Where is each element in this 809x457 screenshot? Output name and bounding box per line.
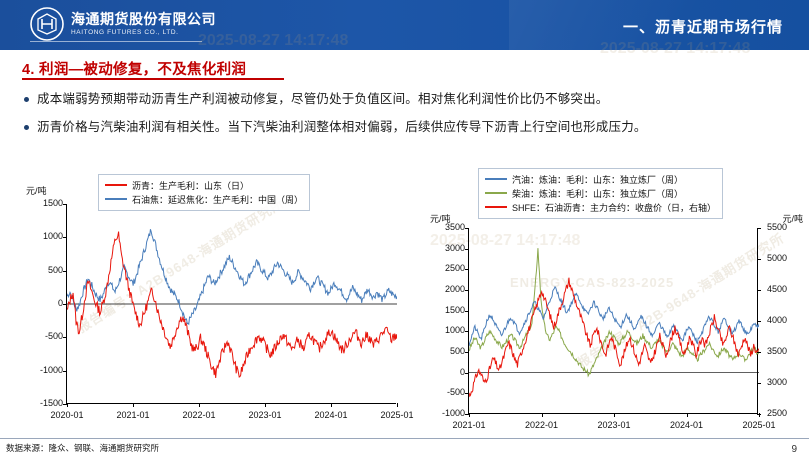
y-tick-mark	[63, 204, 67, 205]
y-tick-label-right: 3500	[767, 346, 805, 356]
y-tick-label: 1000	[427, 325, 465, 335]
y-tick-mark	[465, 290, 469, 291]
company-name-cn: 海通期货股份有限公司	[71, 11, 216, 28]
logo-divider	[30, 41, 202, 42]
x-tick-label: 2021-01	[443, 420, 495, 430]
x-tick-mark	[469, 413, 470, 417]
page-header: 海通期货股份有限公司 HAITONG FUTURES CO., LTD. 一、沥…	[0, 0, 809, 50]
x-tick-label: 2022-01	[173, 410, 225, 420]
y-tick-mark	[63, 304, 67, 305]
page-number: 9	[791, 444, 797, 455]
x-tick-label: 2025-01	[371, 410, 423, 420]
y-tick-label: -1000	[25, 365, 63, 375]
x-tick-label: 2025-01	[733, 420, 785, 430]
x-tick-mark	[67, 403, 68, 407]
y-tick-label-right: 3000	[767, 377, 805, 387]
bullet-dot-icon	[24, 125, 29, 130]
chart-left: 沥青：生产毛利：山东（日） 石油焦：延迟焦化：生产毛利：中国（周） 元/吨 15…	[18, 160, 408, 430]
y-tick-label-right: 5000	[767, 253, 805, 263]
y-tick-mark	[465, 228, 469, 229]
page-title: 4. 利润—被动修复，不及焦化利润	[22, 58, 246, 79]
legend-label: SHFE：石油沥青：主力合约：收盘价（日，右轴）	[512, 201, 716, 214]
y-tick-label: -500	[427, 387, 465, 397]
x-tick-label: 2020-01	[41, 410, 93, 420]
x-tick-label: 2021-01	[107, 410, 159, 420]
y-tick-mark	[465, 311, 469, 312]
y-tick-mark-right	[757, 383, 761, 384]
legend-label: 柴油：炼油：毛利：山东：独立炼厂（周）	[512, 187, 683, 200]
x-tick-label: 2022-01	[516, 420, 568, 430]
y-tick-label: 1500	[25, 198, 63, 208]
legend-label: 沥青：生产毛利：山东（日）	[132, 179, 249, 192]
bullet-dot-icon	[24, 97, 29, 102]
y-tick-mark	[465, 393, 469, 394]
y-tick-label: 0	[427, 367, 465, 377]
legend-entry: SHFE：石油沥青：主力合约：收盘价（日，右轴）	[485, 200, 716, 214]
x-tick-mark	[331, 403, 332, 407]
y-tick-mark	[63, 237, 67, 238]
y-tick-label: 2000	[427, 284, 465, 294]
header-section-title: 一、沥青近期市场行情	[623, 16, 783, 37]
y-tick-label: 3500	[427, 222, 465, 232]
x-tick-mark	[133, 403, 134, 407]
y-tick-label: 1500	[427, 305, 465, 315]
legend-swatch	[485, 178, 507, 180]
x-tick-label: 2023-01	[239, 410, 291, 420]
x-tick-mark	[397, 403, 398, 407]
legend-entry: 沥青：生产毛利：山东（日）	[105, 178, 303, 192]
chart-right: 汽油：炼油：毛利：山东：独立炼厂（周） 柴油：炼油：毛利：山东：独立炼厂（周） …	[420, 160, 805, 430]
legend-swatch	[105, 198, 127, 200]
chart-right-plot: 3500300025002000150010005000-500-1000550…	[468, 228, 758, 414]
legend-entry: 柴油：炼油：毛利：山东：独立炼厂（周）	[485, 186, 716, 200]
legend-entry: 汽油：炼油：毛利：山东：独立炼厂（周）	[485, 172, 716, 186]
y-tick-label: 1000	[25, 231, 63, 241]
y-tick-mark-right	[757, 259, 761, 260]
bullet-text: 成本端弱势预期带动沥青生产利润被动修复，尽管仍处于负值区间。相对焦化利润性价比仍…	[37, 90, 609, 108]
y-tick-label: 500	[427, 346, 465, 356]
x-tick-mark	[199, 403, 200, 407]
x-tick-label: 2024-01	[305, 410, 357, 420]
x-tick-mark	[265, 403, 266, 407]
x-tick-label: 2024-01	[661, 420, 713, 430]
bullet-item: 成本端弱势预期带动沥青生产利润被动修复，尽管仍处于负值区间。相对焦化利润性价比仍…	[24, 90, 784, 108]
y-tick-label: -1000	[427, 408, 465, 418]
y-tick-label: -500	[25, 331, 63, 341]
bullet-item: 沥青价格与汽柴油利润有相关性。当下汽柴油利润整体相对偏弱，后续供应传导下沥青上行…	[24, 118, 784, 136]
y-tick-mark	[63, 271, 67, 272]
title-underline	[22, 78, 284, 80]
x-tick-mark	[687, 413, 688, 417]
company-name-en: HAITONG FUTURES CO., LTD.	[71, 28, 216, 38]
y-tick-mark	[465, 352, 469, 353]
y-tick-label-right: 4000	[767, 315, 805, 325]
y-tick-mark-right	[757, 321, 761, 322]
y-tick-label-right: 5500	[767, 222, 805, 232]
legend-swatch	[105, 184, 127, 186]
legend-swatch	[485, 206, 507, 208]
bullet-text: 沥青价格与汽柴油利润有相关性。当下汽柴油利润整体相对偏弱，后续供应传导下沥青上行…	[37, 118, 647, 136]
legend-swatch	[485, 192, 507, 194]
y-tick-label: 2500	[427, 263, 465, 273]
x-tick-label: 2023-01	[588, 420, 640, 430]
y-tick-label-right: 2500	[767, 408, 805, 418]
y-tick-mark	[465, 331, 469, 332]
y-tick-mark-right	[757, 290, 761, 291]
y-tick-mark	[465, 269, 469, 270]
y-tick-mark-right	[757, 352, 761, 353]
x-tick-mark	[614, 413, 615, 417]
y-tick-label: 3000	[427, 243, 465, 253]
company-logo: 海通期货股份有限公司 HAITONG FUTURES CO., LTD.	[30, 7, 216, 41]
y-tick-mark-right	[757, 228, 761, 229]
y-tick-mark	[63, 337, 67, 338]
data-source-note: 数据来源：隆众、钢联、海通期货研究所	[6, 442, 159, 454]
y-tick-label: 500	[25, 265, 63, 275]
chart-right-legend: 汽油：炼油：毛利：山东：独立炼厂（周） 柴油：炼油：毛利：山东：独立炼厂（周） …	[478, 168, 723, 219]
y-tick-mark	[465, 373, 469, 374]
y-tick-label: -1500	[25, 398, 63, 408]
x-tick-mark	[542, 413, 543, 417]
footer-divider	[0, 438, 809, 439]
haitong-logo-icon	[30, 7, 64, 41]
legend-label: 汽油：炼油：毛利：山东：独立炼厂（周）	[512, 173, 683, 186]
y-tick-mark	[63, 371, 67, 372]
x-tick-mark	[759, 413, 760, 417]
chart-left-plot: 150010005000-500-1000-15002020-012021-01…	[66, 204, 396, 404]
y-tick-label-right: 4500	[767, 284, 805, 294]
y-tick-mark	[465, 249, 469, 250]
y-tick-label: 0	[25, 298, 63, 308]
chart-left-y-unit: 元/吨	[26, 184, 47, 197]
